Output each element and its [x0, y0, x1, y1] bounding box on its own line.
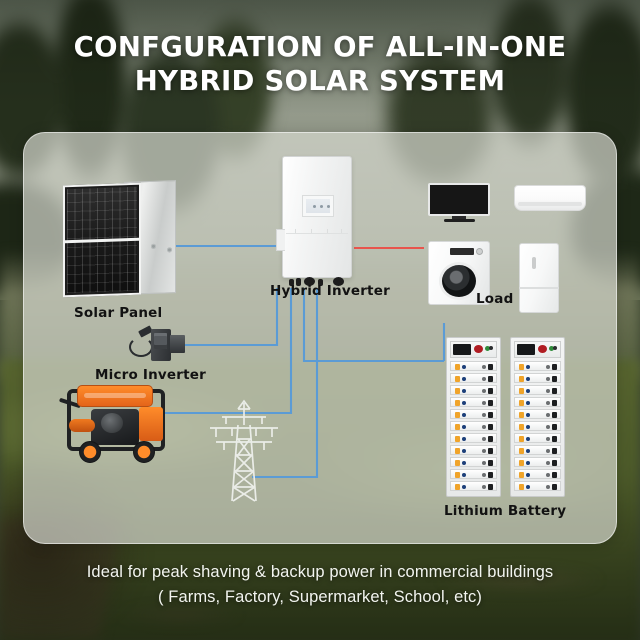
battery-power-indicator	[474, 345, 483, 353]
micro-inverter-cable	[129, 337, 153, 357]
air-conditioner-icon	[514, 185, 586, 211]
battery-module	[450, 481, 497, 491]
ac-vent	[518, 202, 582, 206]
generator-fuel-tank	[77, 385, 153, 407]
washer-display	[450, 248, 474, 255]
battery-controller-display	[453, 344, 471, 355]
inverter-tick	[295, 229, 296, 233]
lithium-battery-rack	[446, 337, 566, 497]
bottom-caption: Ideal for peak shaving & backup power in…	[0, 560, 640, 610]
battery-power-indicator	[538, 345, 547, 353]
transmission-tower	[202, 395, 286, 505]
inverter-side-bracket	[276, 229, 285, 251]
battery-controller	[450, 341, 497, 358]
solar-panel-front	[63, 183, 141, 298]
title-line-2: HYBRID SOLAR SYSTEM	[0, 64, 640, 98]
inverter-display	[302, 195, 334, 217]
generator-cylinder	[101, 413, 123, 433]
fridge-door-split	[519, 287, 559, 289]
battery-module	[514, 385, 561, 395]
refrigerator-icon	[519, 243, 559, 313]
inverter-tick	[341, 229, 342, 233]
transmission-tower-svg	[202, 395, 286, 505]
battery-module	[514, 361, 561, 371]
washer-control-panel	[432, 246, 486, 257]
inverter-tick	[327, 229, 328, 233]
battery-module	[514, 397, 561, 407]
line-microinverter-to-inverter	[184, 288, 277, 345]
ac-body	[514, 185, 586, 211]
battery-rack-left	[446, 337, 501, 497]
label-micro-inverter: Micro Inverter	[95, 367, 206, 383]
micro-inverter-face	[154, 333, 167, 349]
tv-foot	[444, 219, 475, 222]
battery-module	[450, 421, 497, 431]
inverter-tick	[311, 229, 312, 233]
hybrid-inverter-unit	[282, 156, 352, 278]
inverter-button	[320, 205, 323, 208]
battery-module	[450, 385, 497, 395]
fridge-body	[519, 243, 559, 313]
page-title: CONFGURATION OF ALL-IN-ONE HYBRID SOLAR …	[0, 30, 640, 98]
label-hybrid-inverter: Hybrid Inverter	[270, 283, 390, 299]
diagram-panel: Solar Panel Hybrid Inverter	[23, 132, 617, 544]
battery-controller	[514, 341, 561, 358]
caption-line-1: Ideal for peak shaving & backup power in…	[87, 563, 554, 581]
inverter-button	[313, 205, 316, 208]
battery-port	[489, 346, 493, 350]
battery-controller-display	[517, 344, 535, 355]
battery-rack-right	[510, 337, 565, 497]
battery-module	[450, 409, 497, 419]
diagram-stage: Solar Panel Hybrid Inverter	[24, 133, 616, 543]
generator-control-panel	[139, 407, 163, 441]
battery-module	[514, 481, 561, 491]
solar-panel-array	[61, 179, 191, 299]
generator-muffler	[69, 419, 95, 432]
washer-knob	[476, 248, 483, 255]
caption-line-2: ( Farms, Factory, Supermarket, School, e…	[0, 585, 640, 610]
battery-module	[450, 361, 497, 371]
battery-module	[514, 421, 561, 431]
inverter-button	[327, 205, 330, 208]
washer-door	[439, 262, 479, 300]
tv-screen	[428, 183, 490, 216]
television-icon	[428, 183, 490, 223]
diesel-generator	[61, 385, 169, 463]
label-lithium-battery: Lithium Battery	[444, 503, 566, 519]
micro-inverter-device	[127, 329, 189, 363]
inverter-seam	[286, 233, 348, 234]
generator-wheel	[79, 441, 101, 463]
battery-module	[450, 433, 497, 443]
battery-module	[450, 445, 497, 455]
title-line-1: CONFGURATION OF ALL-IN-ONE	[74, 31, 567, 63]
fridge-handle	[532, 257, 536, 269]
battery-module	[514, 457, 561, 467]
battery-module	[514, 445, 561, 455]
generator-tank-stripe	[84, 393, 146, 398]
micro-inverter-plate	[170, 335, 185, 353]
panel-junction-dot	[151, 244, 156, 249]
battery-module	[514, 373, 561, 383]
battery-module	[514, 469, 561, 479]
panel-junction-dot	[167, 247, 172, 252]
battery-module	[514, 409, 561, 419]
label-solar-panel: Solar Panel	[74, 305, 162, 321]
battery-module	[514, 433, 561, 443]
battery-module	[450, 397, 497, 407]
label-load: Load	[476, 291, 513, 307]
generator-engine	[91, 409, 139, 445]
battery-module	[450, 373, 497, 383]
battery-module	[450, 469, 497, 479]
micro-inverter-body	[151, 329, 171, 361]
battery-module	[450, 457, 497, 467]
generator-wheel	[133, 441, 155, 463]
battery-port	[553, 346, 557, 350]
